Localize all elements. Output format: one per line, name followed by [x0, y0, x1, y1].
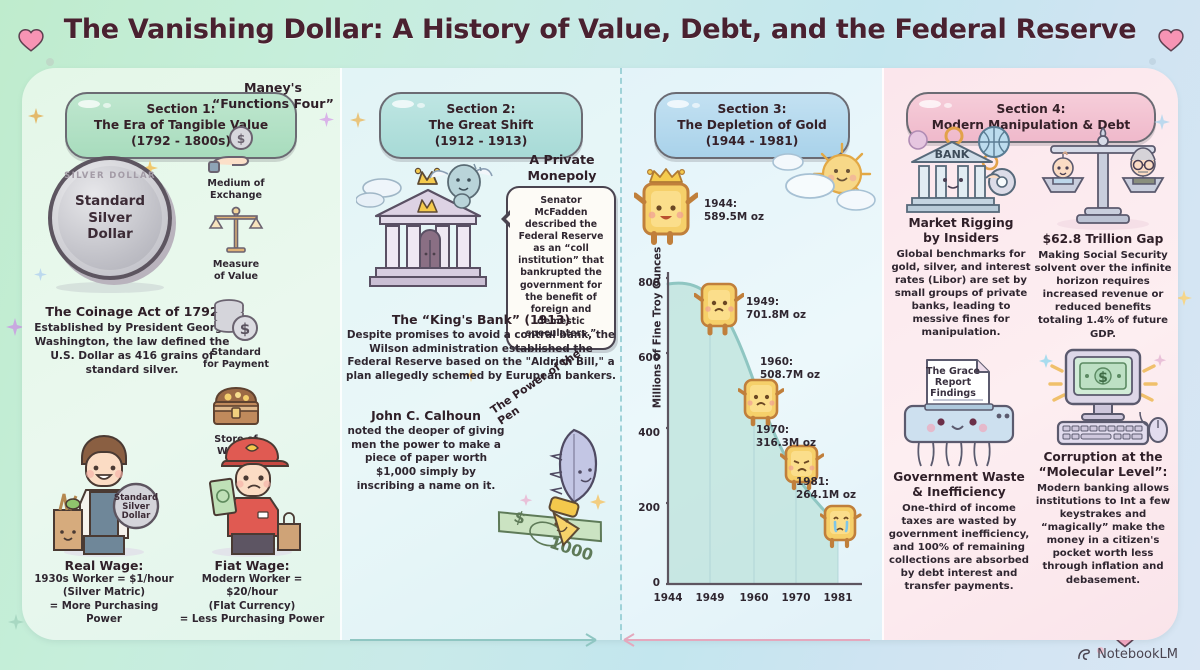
flow-arrow-1-icon [348, 622, 610, 648]
functions-four-heading: Maney's “Functions Four” [208, 80, 338, 112]
coin-arc-text: SILVER DOLLAR [52, 171, 168, 181]
trillion-gap-body: Making Social Security solvent over the … [1032, 249, 1174, 341]
kings-bank-heading: The “King's Bank” (1913) [350, 312, 612, 327]
annotation-year: 1944: [704, 198, 764, 211]
watermark-label: NotebookLM [1097, 647, 1178, 662]
gold-bar-1949-icon [694, 280, 744, 344]
coin-line1: Standard [75, 193, 145, 209]
sparkle-decoration-icon [1176, 290, 1192, 306]
flow-arrow-2-icon [620, 622, 882, 648]
y-tick-600: 600 [624, 352, 660, 364]
x-tick-1944: 1944 [648, 592, 688, 604]
gov-waste-heading-line1: Government Waste [888, 470, 1030, 485]
section-2-title-line1: Section 2: [391, 101, 571, 117]
hand-coin-icon: $ [200, 120, 272, 176]
svg-text:$: $ [1098, 370, 1108, 386]
fiat-wage-line3: = Less Purchasing Power [178, 613, 326, 626]
quill-pen-banknote-icon: $ 1000 [488, 424, 618, 574]
fiat-wage-line2: (Flat Currency) [178, 600, 326, 613]
functions-four-grid: $ Medium of Exchange [200, 120, 346, 458]
private-monopoly-heading: A Private Monepoly [510, 152, 614, 183]
annotation-value: 316.3M oz [756, 437, 816, 450]
x-tick-1960: 1960 [734, 592, 774, 604]
standard-silver-dollar-coin-icon: SILVER DOLLAR Standard Silver Dollar [48, 156, 172, 280]
section-1-panel: Section 1: The Era of Tangible Value (17… [22, 68, 340, 640]
sparkle-decoration-icon [350, 112, 366, 128]
annotation-value: 589.5M oz [704, 211, 764, 224]
section-4-title-line1: Section 4: [918, 101, 1144, 117]
chart-annotation-1981: 1981: 264.1M oz [796, 476, 856, 502]
x-tick-1949: 1949 [690, 592, 730, 604]
corruption-block: $ [1032, 340, 1174, 587]
sad-modern-worker-icon [196, 428, 308, 558]
x-tick-1981: 1981 [818, 592, 858, 604]
paper-shredder-icon: The Grace Report Findings [895, 358, 1023, 470]
sparkle-decoration-icon [34, 268, 47, 281]
annotation-value: 264.1M oz [796, 489, 856, 502]
dot-decoration [46, 58, 54, 66]
svg-text:$: $ [240, 320, 250, 338]
svg-text:$: $ [237, 132, 245, 146]
section-4-panel: Section 4: Modern Manipulation & Debt BA… [882, 68, 1178, 640]
computer-money-icon: $ [1036, 340, 1170, 450]
function-label-line1: Measure [200, 259, 272, 271]
government-waste-block: The Grace Report Findings Government Was… [888, 358, 1030, 594]
function-label-line2: Exchange [200, 190, 272, 202]
section-3-title-line1: Section 3: [666, 101, 838, 117]
gov-waste-heading-line2: & Inefficiency [888, 485, 1030, 500]
function-label-line1: Standard [200, 347, 272, 359]
notebooklm-logo-icon [1077, 647, 1092, 662]
function-label-line2: of Value [200, 271, 272, 283]
infographic-board: Section 1: The Era of Tangible Value (17… [22, 68, 1178, 640]
gold-bar-1944-icon [634, 168, 698, 254]
shredder-doc-line1: The Grace [926, 366, 980, 377]
real-wage-line1: 1930s Worker = $1/hour [30, 573, 178, 586]
trillion-gap-heading: $62.8 Trillion Gap [1032, 232, 1174, 247]
x-tick-1970: 1970 [776, 592, 816, 604]
real-wage-heading: Real Wage: [30, 558, 178, 573]
market-rigging-block: BANK Market Rigging by Insiders Global b… [890, 124, 1032, 340]
y-tick-800: 800 [624, 277, 660, 289]
gold-bar-1981-icon [820, 502, 862, 552]
section-2-title-line3: (1912 - 1913) [391, 133, 571, 149]
real-wage-line3: = More Purchasing Power [30, 600, 178, 627]
balance-baby-elder-icon [1039, 124, 1167, 232]
shredder-doc-line2: Report [935, 377, 972, 388]
balance-scale-icon [200, 201, 272, 257]
chart-annotation-1970: 1970: 316.3M oz [756, 424, 816, 450]
function-medium-of-exchange: $ Medium of Exchange [200, 120, 272, 201]
calhoun-heading: John C. Calhoun [350, 408, 502, 423]
happy-1930s-worker-icon: Standard Silver Dollar [48, 428, 160, 558]
function-standard-for-payment: $ Standard for Payment [200, 289, 272, 370]
market-rigging-heading-line2: by Insiders [890, 231, 1032, 246]
section-3-panel: Section 3: The Depletion of Gold (1944 -… [620, 68, 882, 640]
chart-annotation-1949: 1949: 701.8M oz [746, 296, 806, 322]
watermark: NotebookLM [1077, 647, 1178, 662]
coin-shadow [56, 282, 164, 293]
market-rigging-body: Global benchmarks for gold, silver, and … [890, 248, 1032, 340]
section-2-header: Section 2: The Great Shift (1912 - 1913) [379, 92, 583, 159]
trillion-gap-block: $62.8 Trillion Gap Making Social Securit… [1032, 124, 1174, 341]
coin-line2: Silver [75, 210, 145, 226]
monopoly-heading-line2: Monepoly [510, 168, 614, 184]
fiat-wage-block: Fiat Wage: Modern Worker = $20/hour (Fla… [178, 428, 326, 626]
annotation-value: 701.8M oz [746, 309, 806, 322]
chart-y-axis-label: Millions of Fine Troy Ounces [653, 238, 664, 418]
function-label-line1: Medium of [200, 178, 272, 190]
monopoly-heading-line1: A Private [510, 152, 614, 168]
annotation-year: 1970: [756, 424, 816, 437]
annotation-year: 1949: [746, 296, 806, 309]
real-wage-block: Standard Silver Dollar Real Wage: 1930s … [30, 428, 178, 626]
chart-annotation-1960: 1960: 508.7M oz [760, 356, 820, 382]
kings-bank-icon [356, 154, 506, 304]
corruption-heading-line2: “Molecular Level”: [1032, 465, 1174, 480]
function-measure-of-value: Measure of Value [200, 201, 272, 282]
fiat-wage-line1: Modern Worker = $20/hour [178, 573, 326, 600]
annotation-year: 1981: [796, 476, 856, 489]
corruption-heading-line1: Corruption at the [1032, 450, 1174, 465]
real-wage-line2: (Silver Matric) [30, 586, 178, 599]
treasure-chest-icon [200, 376, 272, 432]
svg-text:BANK: BANK [935, 148, 970, 161]
svg-text:Dollar: Dollar [122, 511, 151, 521]
annotation-value: 508.7M oz [760, 369, 820, 382]
gold-reserves-chart: Millions of Fine Troy Ounces 800 600 400… [622, 154, 884, 614]
function-label-line2: for Payment [200, 359, 272, 371]
section-2-title-line2: The Great Shift [391, 117, 571, 133]
market-rigging-heading-line1: Market Rigging [890, 216, 1032, 231]
dot-decoration [1149, 58, 1156, 65]
calhoun-body: noted the deoper of giving men the power… [346, 425, 506, 494]
y-tick-0: 0 [624, 577, 660, 589]
y-tick-200: 200 [624, 502, 660, 514]
coin-stack-icon: $ [200, 289, 272, 345]
y-tick-400: 400 [624, 427, 660, 439]
functions-four-heading-line1: Maney's [208, 80, 338, 96]
section-2-panel: Section 2: The Great Shift (1912 - 1913) [340, 68, 620, 640]
gov-waste-body: One-third of income taxes are wasted by … [888, 502, 1030, 594]
sparkle-decoration-icon [28, 108, 44, 124]
coin-line3: Dollar [75, 226, 145, 242]
functions-four-heading-line2: “Functions Four” [208, 96, 338, 112]
section-3-title-line2: The Depletion of Gold [666, 117, 838, 133]
chart-annotation-1944: 1944: 589.5M oz [704, 198, 764, 224]
fiat-wage-heading: Fiat Wage: [178, 558, 326, 573]
corruption-body: Modern banking allows institutions to In… [1032, 482, 1174, 587]
page-title: The Vanishing Dollar: A History of Value… [0, 14, 1200, 45]
bank-gear-globe-icon: BANK [898, 124, 1024, 216]
annotation-year: 1960: [760, 356, 820, 369]
shredder-doc-line3: Findings [930, 388, 976, 399]
